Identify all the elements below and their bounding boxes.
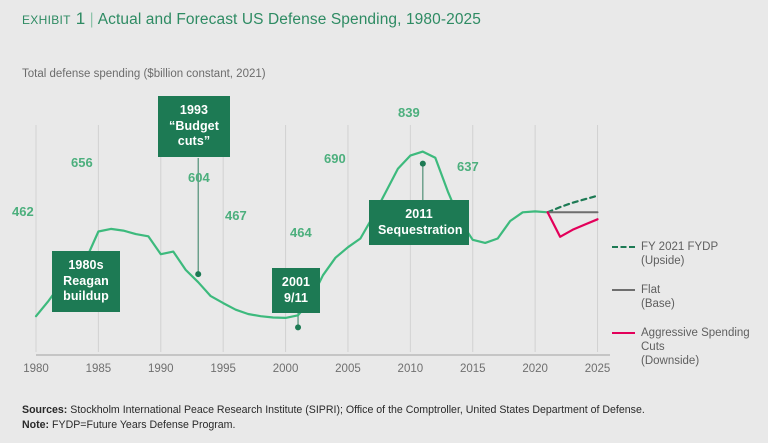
callout-budget-cuts: 1993 “Budget cuts”	[158, 96, 230, 157]
callout-budget-line1: 1993	[180, 103, 208, 117]
callout-911-line1: 2001	[282, 275, 310, 289]
value-label-1990: 604	[188, 170, 210, 185]
legend-swatch-dashed-green-icon	[612, 246, 635, 248]
footer-note-text: FYDP=Future Years Defense Program.	[52, 419, 235, 431]
legend-label-upside: FY 2021 FYDP	[641, 240, 768, 254]
value-label-2011: 839	[398, 105, 420, 120]
x-axis-tick-1990: 1990	[136, 363, 186, 375]
callout-connector-dot	[195, 271, 201, 277]
legend-label-base: Flat	[641, 283, 768, 297]
footer-sources-text: Stockholm International Peace Research I…	[70, 404, 645, 416]
legend-sub-base: (Base)	[641, 297, 768, 311]
callout-reagan-line1: 1980s	[68, 258, 103, 272]
callout-connector-dot	[420, 161, 426, 167]
x-axis-tick-1980: 1980	[11, 363, 61, 375]
value-label-2015: 637	[457, 159, 479, 174]
value-label-1997: 467	[225, 208, 247, 223]
x-axis-tick-2005: 2005	[323, 363, 373, 375]
callout-reagan-line2: Reagan	[63, 274, 109, 288]
series-line-downside	[548, 212, 598, 237]
footer-note-label: Note:	[22, 419, 49, 431]
callout-reagan-line3: buildup	[63, 289, 109, 303]
x-axis-tick-2015: 2015	[448, 363, 498, 375]
x-axis-tick-1985: 1985	[73, 363, 123, 375]
legend-item-downside[interactable]: Aggressive Spending Cuts (Downside)	[612, 326, 768, 368]
value-label-1985: 656	[71, 155, 93, 170]
series-line-upside	[548, 196, 598, 213]
gridlines	[36, 125, 598, 352]
x-axis-tick-2010: 2010	[385, 363, 435, 375]
x-axis-tick-2020: 2020	[510, 363, 560, 375]
callout-911-line2: 9/11	[284, 291, 308, 305]
callout-sequestration: 2011 Sequestration	[369, 200, 469, 245]
legend-sub-upside: (Upside)	[641, 254, 768, 268]
legend-label-downside: Aggressive Spending Cuts	[641, 326, 768, 354]
legend-item-base[interactable]: Flat (Base)	[612, 283, 768, 311]
callout-budget-line3: cuts”	[178, 134, 210, 148]
footer-sources: Sources: Stockholm International Peace R…	[22, 403, 752, 418]
footer-note: Note: FYDP=Future Years Defense Program.	[22, 418, 752, 433]
chart-legend: FY 2021 FYDP (Upside) Flat (Base) Aggres…	[612, 240, 768, 383]
footer-sources-label: Sources:	[22, 404, 67, 416]
legend-item-upside[interactable]: FY 2021 FYDP (Upside)	[612, 240, 768, 268]
value-label-2001: 464	[290, 225, 312, 240]
callout-reagan-buildup: 1980s Reagan buildup	[52, 251, 120, 312]
legend-sub-downside: (Downside)	[641, 354, 768, 368]
callout-seq-line2: Sequestration	[378, 223, 463, 237]
legend-swatch-solid-gray-icon	[612, 289, 635, 291]
x-axis-tick-2000: 2000	[261, 363, 311, 375]
value-label-1980: 462	[12, 204, 34, 219]
callout-connector-dot	[295, 324, 301, 330]
value-label-2007: 690	[324, 151, 346, 166]
callout-nine-eleven: 2001 9/11	[272, 268, 320, 313]
x-axis-tick-1995: 1995	[198, 363, 248, 375]
footer: Sources: Stockholm International Peace R…	[22, 403, 752, 433]
legend-swatch-solid-pink-icon	[612, 332, 635, 334]
callout-seq-line1: 2011	[405, 207, 433, 221]
callout-budget-line2: “Budget	[169, 119, 219, 133]
